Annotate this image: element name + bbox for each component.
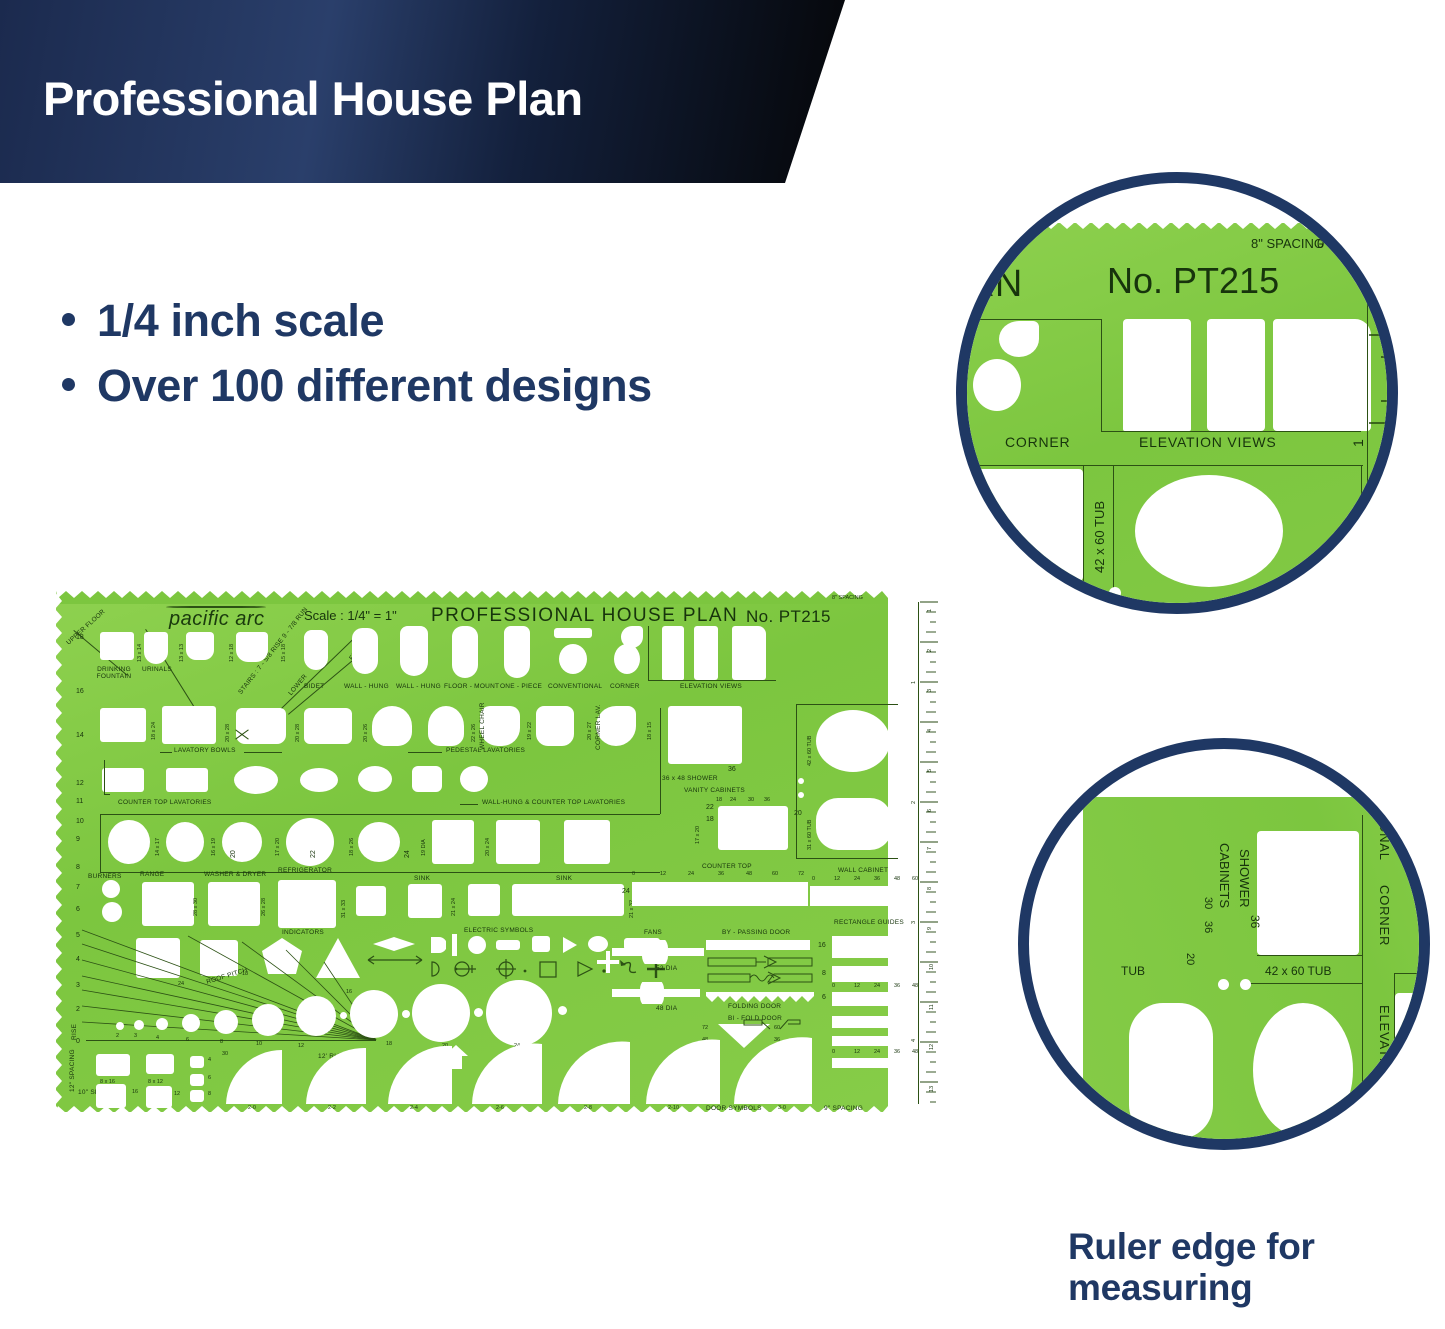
zoom2-cutout-tub-42x60 [1253,1003,1353,1137]
cutout-pitch-dot [116,1022,124,1030]
cutout-conventional-bowl [559,644,587,674]
zoom-dim-36: 36 [1039,577,1053,590]
dim-31x33: 31 x 33 [342,900,348,918]
circle-num-24b: 24 [178,982,184,988]
cutout-fan-52 [612,940,704,964]
zoom2-label-tub-42x60: 42 x 60 TUB [1265,965,1331,977]
dim-17x20: 17 x 20 [276,838,282,856]
label-counter-top-lavatories: COUNTER TOP LAVATORIES [118,800,212,807]
frame-line [796,704,898,705]
header-banner: Professional House Plan [0,0,845,183]
cutout-rect-small [496,940,520,950]
pitch-num-2: 2 [116,1034,119,1040]
frame-line [1361,465,1362,591]
guide-line [160,752,172,753]
frame-line [1247,983,1363,984]
label-electric-symbols: ELECTRIC SYMBOLS [464,928,533,935]
cutout-wall-hung-wc [400,626,428,676]
cutout-dot [474,1008,483,1017]
cutout-north-arrow [442,1044,470,1070]
spacing-label-top-right: 8" SPACING [832,596,863,602]
cutout-block-4 [190,1056,204,1068]
rg2-tick-12: 12 [854,1050,860,1056]
vanity-tick-36: 36 [764,798,770,804]
rect-height-8: 8 [822,970,826,977]
left-scale-16: 16 [76,688,84,695]
ruler-q-2: 2 [928,649,934,652]
label-fans: FANS [644,930,662,937]
cutout-pitch-dot [182,1014,200,1032]
zoom-cutout-elev-wc-1 [1123,319,1191,431]
block-dim-4: 4 [208,1058,211,1064]
cutout-lav-circle [358,822,400,862]
cutout-counter-lav [166,768,208,792]
cutout-washer-dryer [208,882,260,926]
cutout-rect-guide [832,1036,918,1046]
cutout-refrigerator [278,880,336,928]
door-size-2-0: 2-0 [248,1106,256,1112]
bullet-label: Over 100 different designs [97,362,652,411]
cutout-pitch-circle [486,980,552,1046]
zoom-ruler-1: 1 [1383,263,1387,271]
cutout-pedestal-lav [428,706,464,746]
cutout-rect-guide-8 [832,966,918,982]
cutout-dot [402,1010,410,1018]
cutout-wall-cabinet-strip [810,886,920,906]
cutout-urinal [186,632,214,660]
dim: 20 x 28 [226,724,232,742]
dim-19-dia: 19 DIA [422,839,428,856]
label-shower: 36 x 48 SHOWER [662,776,718,783]
cutout-drinking-fountain [100,632,134,660]
ruler-q-9: 9 [928,927,934,930]
zoom2-vanity-36: 36 [1202,921,1213,933]
cutout-pedestal-lav [372,706,412,746]
vanity-tick-24: 24 [730,798,736,804]
rg2-tick-36: 36 [894,1050,900,1056]
cutout-wall-hung-wc [352,628,378,674]
label-wall-hung-1: WALL - HUNG [344,684,389,691]
cutout-bidet [304,630,328,670]
zoom-part-number: No. PT215 [1107,263,1279,299]
ct-tick-60: 60 [772,872,778,878]
cutout-lav-circle [108,820,150,864]
cutout-counter-lav-oval [234,766,278,794]
vanity-tick-18: 18 [716,798,722,804]
label-tub-42x60: 42 x 60 TUB [808,736,814,766]
cutout-lav-square [496,820,540,864]
ruler-q-4: 4 [928,729,934,732]
ruler-inch-3: 3 [912,921,918,924]
cutout-fan-48 [612,982,700,1004]
cutout-lav-bowl [162,706,216,744]
rect-height-16: 16 [818,942,826,949]
ruler-q-1: 1 [928,609,934,612]
cutout-pitch-dot [214,1010,238,1034]
dim-16x19: 16 x 19 [212,838,218,856]
template-title: PROFESSIONAL HOUSE PLAN [431,606,738,625]
door-size-2-6: 2-6 [496,1106,504,1112]
label-floor-mount: FLOOR - MOUNT [444,684,499,691]
label-rectangle-guides: RECTANGLE GUIDES [834,920,904,927]
label-drinking-fountain: DRINKING FOUNTAIN [92,667,136,680]
callout-caption: Ruler edge for measuring [1068,1226,1398,1309]
label-sink-2: SINK [556,876,572,883]
door-dim-72: 72 [702,1026,708,1032]
cutout-block-8x12 [146,1054,174,1074]
guide-line [408,752,442,753]
left-scale-0: 0 [76,1038,80,1045]
zoom-plan-text: PLAN [967,265,1024,303]
cutout-bypass-door-strip [706,940,810,950]
left-scale-12: 12 [76,780,84,787]
door-size-2-2: 2-2 [328,1106,336,1112]
ruler-inch-4: 4 [912,1039,918,1042]
cutout-corner-lav [536,706,574,746]
frame-line [100,814,101,872]
left-scale-11: 11 [76,798,83,805]
ruler-q-8: 8 [928,887,934,890]
label-corner-lav: CORNER LAV. [596,704,603,750]
cutout-lav-circle [222,822,262,862]
label-washer-dryer: WASHER & DRYER [204,872,266,879]
part-number-label: No. PT215 [746,608,831,625]
cutout-door-swing-2-2 [304,1046,370,1106]
door-size-2-4: 2-4 [410,1106,418,1112]
dim-15x18: 15 x 18 [282,644,288,662]
ruler-q-11: 11 [930,1004,936,1010]
cutout-elevation-wc-3 [732,626,766,680]
left-scale-4: 4 [76,956,80,963]
cutout-door-swing-3-0 [732,1036,816,1106]
cutout-counter-lav-oval [460,766,488,792]
zoom2-vanity-30: 30 [1202,897,1213,909]
frame-line [967,319,1101,320]
dim: 18 x 15 [648,722,654,740]
ruler-q-6: 6 [928,809,934,812]
label-door-symbols: DOOR SYMBOLS [706,1106,762,1113]
wc-tick-48: 48 [894,877,900,883]
wc-tick-36: 36 [874,877,880,883]
cutout-door-swing-2-0 [224,1048,286,1106]
cutout-door-swing-2-8 [556,1040,634,1106]
ruler-q-5: 5 [928,769,934,772]
cutout-lav-square [564,820,610,864]
zoom2-label-tional: TIONAL [1378,809,1391,861]
bullet-dot-icon [62,378,75,391]
zoom-label-corner: CORNER [1005,435,1070,449]
cutout-pitch-circle [412,984,470,1042]
cutout-counter-lav-oval [300,768,338,792]
ruler-inch-2: 2 [912,801,918,804]
dim-13x14: 13 x 14 [138,644,144,662]
cutout-elevation-wc-1 [662,626,684,680]
cutout-lav-bowl [100,708,146,742]
cutout-block-8x16 [96,1054,130,1076]
label-wall-hung-counter-top: WALL-HUNG & COUNTER TOP LAVATORIES [482,800,625,807]
scalloped-edge-top-icon [56,591,888,604]
callout-top-content: PLAN No. PT215 8" SPACING 0 ONAL CORNER … [967,183,1387,603]
list-item: Over 100 different designs [62,362,652,411]
label-refrigerator: REFRIGERATOR [278,868,332,875]
cutout-door-swing-2-10 [644,1038,724,1106]
stencil-template-main: pacific arc Scale : 1/4" = 1" PROFESSION… [56,592,888,1112]
dim: 20 x 28 [296,724,302,742]
zoom-cutout-tub-42x60 [1135,475,1283,587]
fan-dim-48: 48 DIA [656,1006,677,1013]
block-dim-12: 12 [174,1092,180,1098]
cutout-square-small [532,936,550,952]
ct-tick-24: 24 [688,872,694,878]
block-dim-8x12: 8 x 12 [148,1080,163,1086]
frame-line [1083,465,1084,581]
zoom-ruler-zero: 0 [1317,237,1324,250]
frame-line [1101,319,1102,431]
cutout-counter-lav-oval [358,766,392,792]
label-folding-door: FOLDING DOOR [728,1004,781,1011]
cutout-dot [340,1012,347,1019]
ruler-q-13: 13 [930,1086,936,1092]
zoom-cutout-elev-wc-3 [1273,319,1371,431]
label-elevation-views: ELEVATION VIEWS [680,684,742,691]
label-range: RANGE [140,872,164,879]
callout-circle-bottom: SE PLAN No. PT215 8" SPACING 0 TIONAL CO… [1018,738,1430,1150]
ct-tick-72: 72 [798,872,804,878]
dim-18: 18 [706,816,714,823]
zoom-cutout-corner-tank [999,321,1039,357]
label-by-passing-door: BY - PASSING DOOR [722,930,790,937]
dim-14x17: 14 x 17 [156,838,162,856]
zoom-ruler-3: 3 [1383,439,1387,447]
zoom-ruler-4: 4 [1383,527,1387,535]
cutout-rect-guide [832,1058,918,1068]
feature-bullet-list: 1/4 inch scale Over 100 different design… [62,297,652,426]
dim-17x19: 17 x 20 [696,826,702,844]
cutout-pitch-dot [156,1018,168,1030]
dim-22: 22 [310,850,317,858]
zoom2-label-elevation-views: ELEVATION VIEWS [1378,1005,1391,1134]
vanity-tick-30: 30 [748,798,754,804]
label-wheel-chair: WHEEL CHAIR [480,702,487,750]
ct-tick-0: 0 [632,872,635,878]
dim-28x30: 28 x 30 [194,898,200,916]
frame-line [100,872,660,873]
pitch-num-10: 10 [256,1042,262,1048]
stencil-zoom-top: PLAN No. PT215 8" SPACING 0 ONAL CORNER … [967,223,1387,603]
bullet-dot-icon [62,313,75,326]
cutout-vanity-cabinet [718,806,788,850]
zoom2-cutout-tub-pin [1218,979,1229,990]
block-dim-16: 16 [132,1090,138,1096]
zoom2-cutout-shower [1257,831,1359,955]
cutout-pitch-dot [134,1020,144,1030]
cutout-bar [452,934,457,956]
ct-tick-12: 12 [660,872,666,878]
zoom-cutout-elev-wc-2 [1207,319,1265,431]
right-edge-ruler-ticks [914,598,940,1108]
label-counter-top: COUNTER TOP [702,864,752,871]
cutout-lav-circle [286,818,334,866]
circle-num-18: 18 [242,972,248,978]
cutout-pitch-circle [350,990,398,1038]
zoom-label-tub-42x60: 42 x 60 TUB [1093,501,1106,573]
cutout-sink [408,884,442,918]
left-scale-9: 9 [76,836,80,843]
label-bidet: BIDET [304,684,324,691]
cutout-tub-31x60 [816,798,892,850]
left-scale-5: 5 [76,932,80,939]
cutout-tub-pin [888,792,894,798]
spacing-label-left-lower: 12" SPACING [70,1049,77,1092]
cutout-counter-top-strip [632,882,808,906]
stencil-zoom-bottom: SE PLAN No. PT215 8" SPACING 0 TIONAL CO… [1083,797,1419,1139]
cutout-lav-bowl [304,708,352,744]
bullet-label: 1/4 inch scale [97,297,384,346]
ruler-inch-1: 1 [912,681,918,684]
zoom2-label-shower: SHOWER [1238,849,1251,908]
cutout-bypass-door-symbols [706,954,814,990]
callout-bottom-content: SE PLAN No. PT215 8" SPACING 0 TIONAL CO… [1029,749,1419,1139]
dim-12x18: 12 x 18 [230,644,236,662]
label-wall-cabinet: WALL CABINET [838,868,888,875]
left-scale-3: 3 [76,982,80,989]
zoom-ruler-2: 2 [1383,351,1387,359]
label-conventional: CONVENTIONAL [548,684,602,691]
cutout-half-round [430,936,446,954]
dim-24: 24 [622,888,630,895]
cutout-range [142,882,194,926]
scalloped-edge-left-icon [55,592,68,1112]
zoom2-label-cabinets: CABINETS [1218,843,1231,908]
zoom2-label-tub: TUB [1121,965,1145,977]
dim-21x24: 21 x 24 [452,898,458,916]
page-title: Professional House Plan [43,71,583,126]
dim-20x24: 20 x 24 [486,838,492,856]
cutout-burner [102,902,122,922]
cutout-dot [558,1006,567,1015]
zoom-ruler-ticks [1363,239,1387,603]
cutout-block-6 [190,1074,204,1086]
label-corner: CORNER [610,684,640,691]
ct-tick-36: 36 [718,872,724,878]
wc-tick-0: 0 [812,877,815,883]
door-size-2-10: 2-10 [668,1106,679,1112]
frame-line [1257,955,1363,956]
dim: 22 x 26 [472,724,478,742]
zoom2-cutout-tub-31x60 [1129,1003,1213,1139]
frame-line [1113,465,1114,591]
dim-13x13: 13 x 13 [180,644,186,662]
left-scale-10: 10 [76,818,84,825]
left-scale-18: 18 [76,634,84,641]
zoom-spacing-label: 8" SPACING [1251,237,1324,250]
pitch-num-16: 16 [346,990,352,996]
cutout-circle [468,936,486,954]
cutout-pitch-dot [252,1004,284,1036]
divider-line [648,680,776,681]
frame-line [796,704,797,858]
cutout-counter-lav [102,768,144,792]
dim-26x28: 26 x 28 [262,898,268,916]
frame-line [100,814,660,815]
left-scale-7: 7 [76,884,80,891]
ruler-q-3: 3 [928,689,934,692]
rect-height-6: 6 [822,994,826,1001]
cutout-shower-36x48 [668,706,742,764]
zoom2-label-corner: CORNER [1378,885,1391,946]
spacing-label-bottom-right: 9" SPACING [824,1106,863,1113]
dim-18x26: 18 x 26 [350,838,356,856]
rg-tick-24: 24 [874,984,880,990]
block-dim-6: 6 [208,1076,211,1082]
dim-20: 20 [230,850,237,858]
brand-swoosh-icon [166,606,266,608]
zoom-label-shower: 8 SHOWER [967,587,1040,601]
scale-label: Scale : 1/4" = 1" [304,609,397,622]
left-scale-8: 8 [76,864,80,871]
cutout-one-piece-wc [504,626,530,678]
cutout-cross [596,950,620,974]
dim: 20 x 26 [364,724,370,742]
dim: 19 x 22 [528,722,534,740]
guide-line [244,752,282,753]
left-scale-2: 2 [76,1006,80,1013]
label-burners: BURNERS [88,874,122,881]
rg-tick-0: 0 [832,984,835,990]
cutout-folding-door-strip [706,992,814,1002]
cutout-door-symbol-pair [742,1016,802,1032]
guide-line [460,804,478,805]
cutout-burner [102,880,120,898]
cutout-tub-42x60 [816,710,890,772]
frame-line [1113,465,1361,466]
frame-line [796,858,898,859]
left-scale-6: 6 [76,906,80,913]
wc-tick-24: 24 [854,877,860,883]
cutout-triangle-right [562,936,578,954]
cutout-rect-guide-6 [832,992,918,1006]
pitch-num-4: 4 [156,1036,159,1042]
frame-line [1101,431,1361,432]
zoom-cutout-corner-bowl [973,359,1021,411]
divider-line [648,626,649,680]
zoom2-cutout-tub-pin [1240,979,1251,990]
cutout-urinal [236,632,268,662]
callout-circle-top: PLAN No. PT215 8" SPACING 0 ONAL CORNER … [956,172,1398,614]
wc-tick-12: 12 [834,877,840,883]
cutout-sink-small [356,886,386,916]
cutout-door-swing-2-6 [470,1042,546,1106]
cutout-lav-bowl [236,708,286,744]
cutout-elevation-wc-2 [694,626,718,680]
left-scale-14: 14 [76,732,84,739]
cutout-rect-guide [832,1016,918,1028]
pitch-num-3: 3 [134,1034,137,1040]
shower-dim-36: 36 [728,766,736,773]
block-dim-8: 8 [208,1092,211,1098]
cutout-tub-pin [888,778,894,784]
zoom2-cutout-elev-wc-2 [1395,1069,1419,1121]
zoom-ruler-inch-1: 1 [1351,439,1365,447]
cutout-pitch-dot [296,996,336,1036]
cutout-lav-square [432,820,474,864]
ruler-q-10: 10 [930,964,936,970]
zoom-cutout-tub-pin [1109,587,1121,599]
cutout-block-8 [190,1090,204,1102]
cutout-block [146,1086,172,1108]
list-item: 1/4 inch scale [62,297,652,346]
label-lavatory-bowls: LAVATORY BOWLS [174,748,236,755]
